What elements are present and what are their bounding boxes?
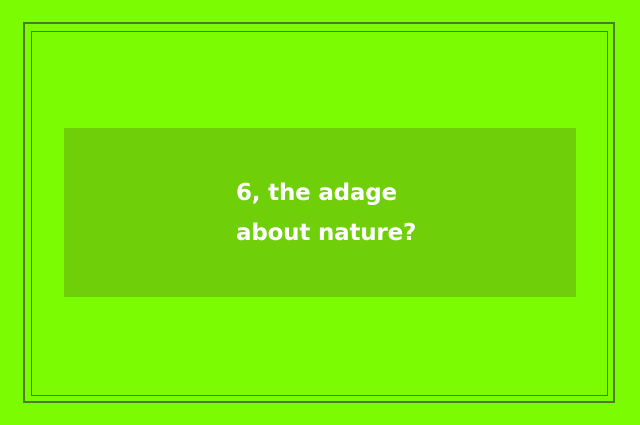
content-panel: 6, the adage about nature? — [64, 128, 576, 297]
panel-text-line-1: 6, the adage — [236, 173, 397, 213]
slide-canvas: 6, the adage about nature? — [0, 0, 640, 425]
panel-text-line-2: about nature? — [236, 213, 416, 253]
